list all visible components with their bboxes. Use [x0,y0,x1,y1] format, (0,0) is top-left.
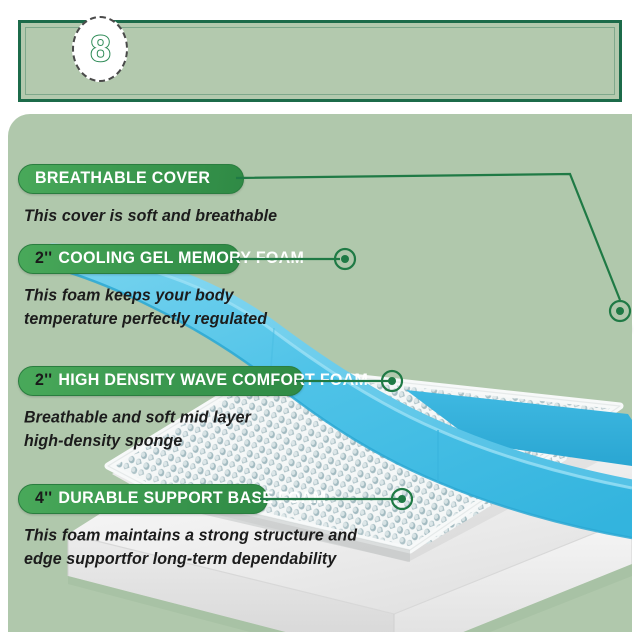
infographic-canvas: 8 Memory Foam Mattress [0,0,640,640]
pill-label-text: COOLING GEL MEMORY FOAM [58,249,304,267]
pill-label-text: DURABLE SUPPORT BASE FOAM [58,489,326,507]
content-panel: BREATHABLE COVER 2''COOLING GEL MEMORY F… [8,114,632,632]
pill-label-text: BREATHABLE COVER [35,169,210,187]
label-pill-cooling-gel-memory-foam[interactable]: 2''COOLING GEL MEMORY FOAM [18,244,240,274]
pill-thickness-text: 4'' [35,489,52,507]
description-cooling-gel-memory-foam: This foam keeps your body temperature pe… [24,285,267,330]
description-durable-support-base-foam: This foam maintains a strong structure a… [24,525,357,570]
pill-thickness-text: 2'' [35,371,52,389]
pill-thickness-text: 2'' [35,249,52,267]
label-pill-high-density-wave-comfort-foam[interactable]: 2''HIGH DENSITY WAVE COMFORT FOAM [18,366,304,396]
label-pill-durable-support-base-foam[interactable]: 4''DURABLE SUPPORT BASE FOAM [18,484,268,514]
step-number-text: 8 [90,31,109,67]
label-pill-breathable-cover[interactable]: BREATHABLE COVER [18,164,244,194]
pill-label-text: HIGH DENSITY WAVE COMFORT FOAM [58,371,368,389]
description-high-density-wave-comfort-foam: Breathable and soft mid layer high-densi… [24,407,251,452]
step-number-badge: 8 [72,16,128,82]
description-breathable-cover: This cover is soft and breathable [24,205,277,228]
